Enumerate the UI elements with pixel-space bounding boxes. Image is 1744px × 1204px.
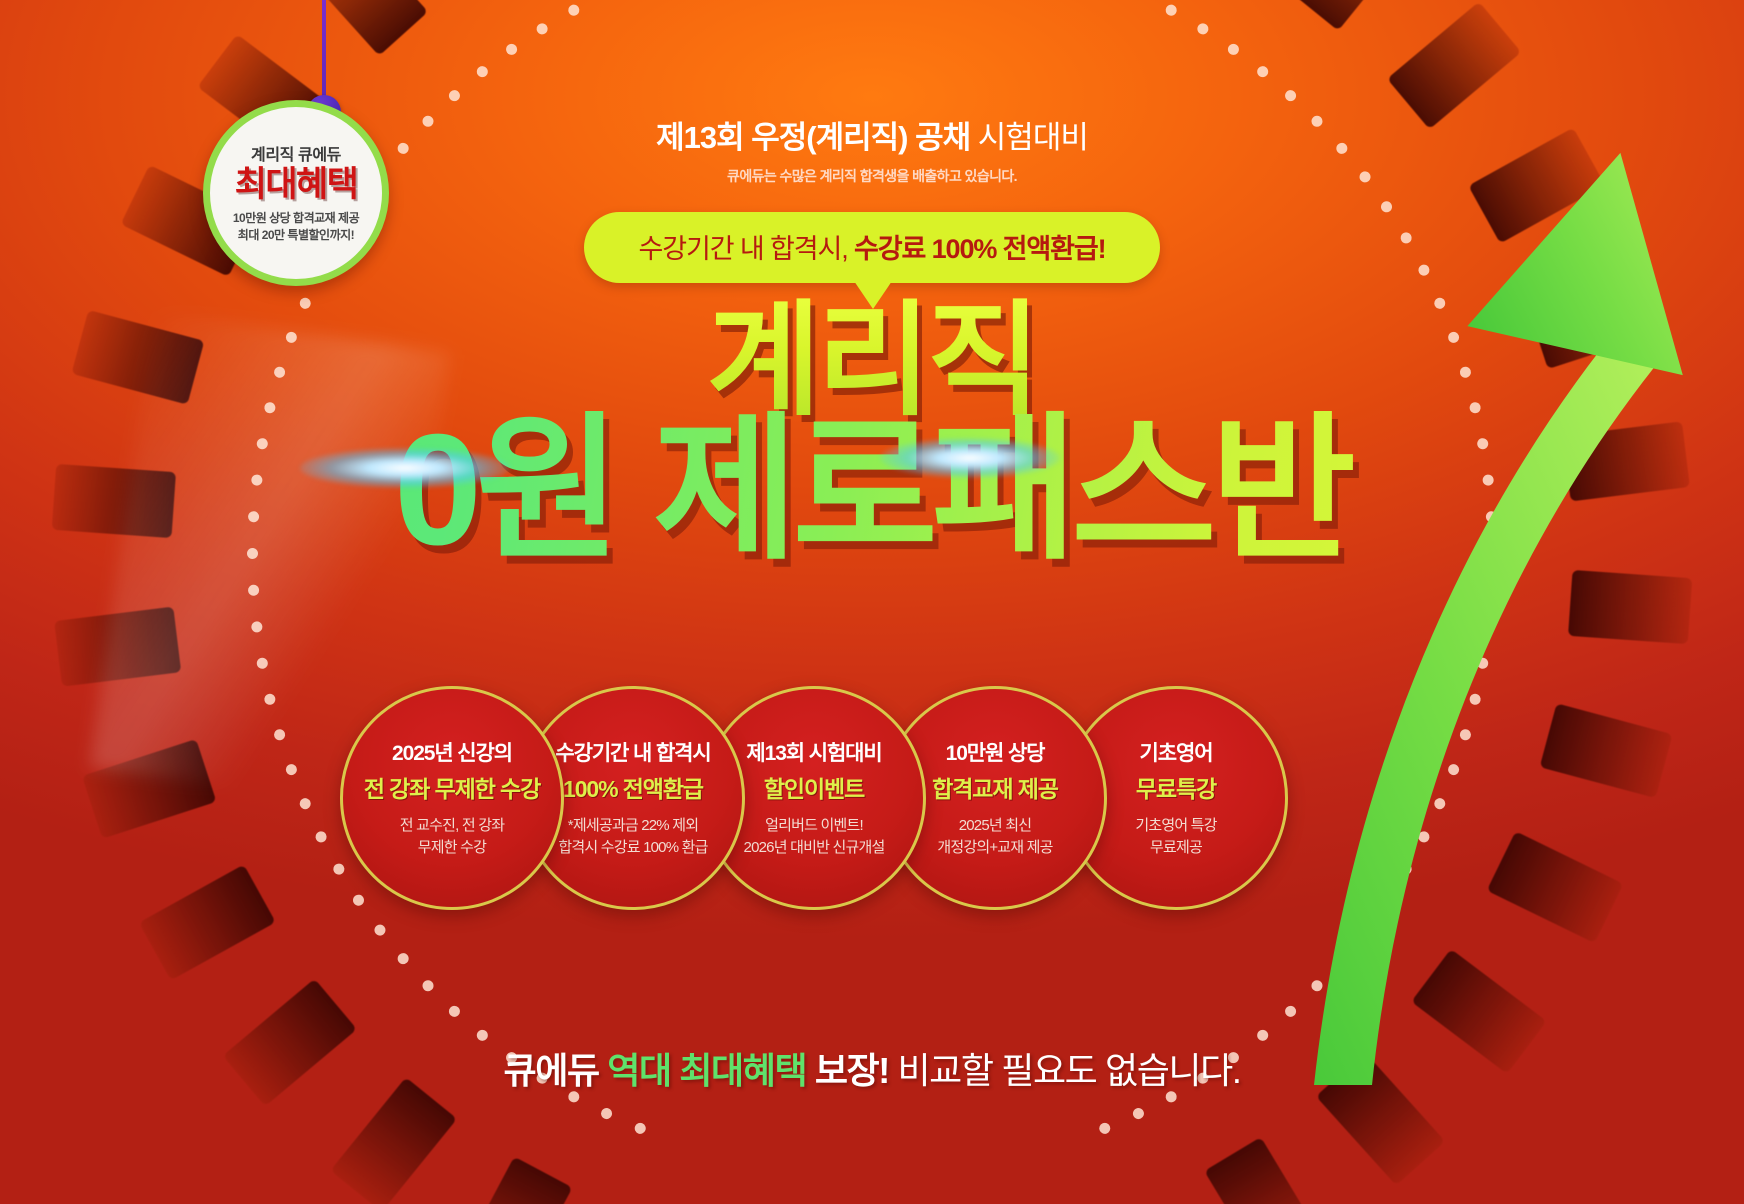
benefit-title: 수강기간 내 합격시 <box>555 737 710 767</box>
arc-dot <box>446 1004 462 1020</box>
arc-dot <box>1195 22 1210 37</box>
benefit-desc-line2: 개정강의+교재 제공 <box>937 839 1052 856</box>
wheel-segment <box>458 1156 573 1204</box>
arc-dot <box>1225 42 1240 57</box>
benefit-desc-line2: 2026년 대비반 신규개설 <box>744 839 885 856</box>
bottom-tagline: 큐에듀 역대 최대혜택 보장! 비교할 필요도 없습니다. <box>0 1042 1744 1094</box>
tagline-text: 큐에듀 역대 최대혜택 보장! 비교할 필요도 없습니다. <box>0 1042 1744 1094</box>
tagline-highlight: 역대 최대혜택 <box>607 1050 806 1091</box>
benefit-title: 10만원 상당 <box>946 737 1045 767</box>
page-title: 제13회 우정(계리직) 공채 시험대비 <box>0 112 1744 157</box>
arc-dot <box>633 1122 647 1136</box>
benefit-desc: 기초영어 특강무료제공 <box>1135 815 1216 859</box>
benefit-desc-line1: 기초영어 특강 <box>1135 817 1216 834</box>
bubble-text-bold: 수강료 100% 전액환급! <box>854 234 1106 264</box>
arc-dot <box>1357 923 1372 938</box>
wheel-segment <box>1387 1 1521 129</box>
benefit-desc-line1: 전 교수진, 전 강좌 <box>400 817 504 834</box>
refund-bubble: 수강기간 내 합격시, 수강료 100% 전액환급! <box>584 212 1159 283</box>
benefit-desc: *제세공과금 22% 제외합격시 수강료 100% 환급 <box>558 815 707 859</box>
arc-dot <box>1482 621 1494 633</box>
tagline-part2: 보장! <box>806 1050 889 1091</box>
benefit-highlight: 무료특강 <box>1136 770 1216 804</box>
arc-dot <box>395 951 411 967</box>
arc-dot <box>599 1107 614 1122</box>
bubble-text-normal: 수강기간 내 합격시, <box>638 234 854 264</box>
benefit-desc-line2: 무제한 수강 <box>418 839 486 856</box>
arc-dot <box>1254 64 1269 79</box>
tagline-part1: 큐에듀 <box>504 1050 608 1091</box>
arc-dot <box>1282 1004 1298 1020</box>
benefit-desc: 얼리버드 이벤트!2026년 대비반 신규개설 <box>744 815 885 859</box>
arc-dot <box>1334 951 1350 967</box>
arc-dot <box>250 621 262 633</box>
arc-dot <box>1309 978 1325 994</box>
arc-dot <box>1097 1122 1111 1136</box>
arc-dot <box>474 64 489 79</box>
benefit-desc-line2: 합격시 수강료 100% 환급 <box>558 839 707 856</box>
wheel-segment <box>299 0 428 56</box>
arc-dot <box>1163 3 1178 18</box>
benefit-title: 기초영어 <box>1140 737 1213 767</box>
arc-dot <box>372 923 387 938</box>
wheel-segment <box>1204 1137 1322 1204</box>
benefit-circle: 2025년 신강의전 강좌 무제한 수강전 교수진, 전 강좌무제한 수강 <box>340 686 564 910</box>
benefit-title: 제13회 시험대비 <box>746 737 881 767</box>
arc-dot <box>1131 0 1146 1</box>
promo-banner: 계리직 큐에듀 최대혜택 10만원 상당 합격교재 제공 최대 20만 특별할인… <box>0 0 1744 1204</box>
page-title-bold: 제13회 우정(계리직) 공채 <box>656 120 970 155</box>
headline: 계리직 0원 제로패스반 <box>0 298 1744 572</box>
arc-dot <box>566 3 581 18</box>
benefit-highlight: 할인이벤트 <box>764 770 864 804</box>
header: 제13회 우정(계리직) 공채 시험대비 큐에듀는 수많은 계리직 합격생을 배… <box>0 112 1744 186</box>
benefit-desc-line2: 무료제공 <box>1150 839 1202 856</box>
arc-dot <box>1282 88 1298 104</box>
refund-bubble-wrap: 수강기간 내 합격시, 수강료 100% 전액환급! <box>0 212 1744 283</box>
arc-dot <box>247 585 259 597</box>
benefit-circle-list: 2025년 신강의전 강좌 무제한 수강전 교수진, 전 강좌무제한 수강수강기… <box>0 686 1744 896</box>
arc-dot <box>503 42 518 57</box>
benefit-desc: 2025년 최신개정강의+교재 제공 <box>937 815 1052 859</box>
benefit-highlight: 100% 전액환급 <box>563 770 703 804</box>
page-title-rest: 시험대비 <box>970 120 1088 155</box>
tagline-part3: 비교할 필요도 없습니다. <box>889 1050 1241 1091</box>
arc-dot <box>534 22 549 37</box>
benefit-desc-line1: 2025년 최신 <box>959 817 1032 834</box>
benefit-title: 2025년 신강의 <box>392 737 512 767</box>
refund-bubble-text: 수강기간 내 합격시, 수강료 100% 전액환급! <box>638 227 1105 266</box>
benefit-highlight: 합격교재 제공 <box>932 770 1058 804</box>
benefit-desc: 전 교수진, 전 강좌무제한 수강 <box>400 815 504 859</box>
arc-dot <box>1131 1107 1146 1122</box>
benefit-desc-line1: *제세공과금 22% 제외 <box>568 817 698 834</box>
arc-dot <box>599 0 614 1</box>
wheel-segment <box>54 606 181 686</box>
wheel-segment <box>1568 570 1692 644</box>
arc-dot <box>420 978 436 994</box>
arc-dot <box>1476 657 1489 670</box>
header-subtitle: 큐에듀는 수많은 계리직 합격생을 배출하고 있습니다. <box>0 166 1744 186</box>
arc-dot <box>446 88 462 104</box>
benefit-highlight: 전 강좌 무제한 수강 <box>364 770 540 804</box>
arc-dot <box>1485 585 1497 597</box>
wheel-segment <box>1287 0 1414 31</box>
wheel-segment <box>330 1077 457 1204</box>
benefit-desc-line1: 얼리버드 이벤트! <box>765 817 863 834</box>
arc-dot <box>255 657 268 670</box>
headline-line-2: 0원 제로패스반 <box>0 410 1744 571</box>
